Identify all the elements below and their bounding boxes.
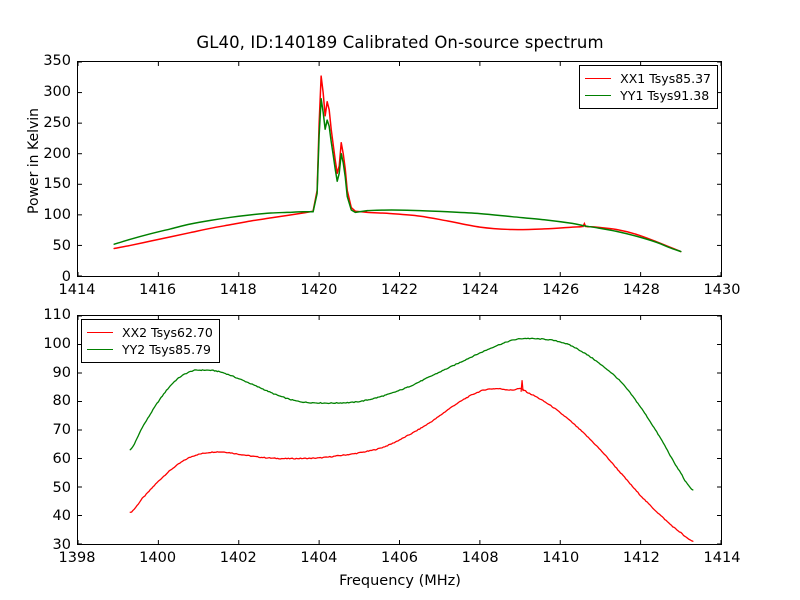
bottom-panel-y-tick-label: 80 <box>7 393 71 409</box>
top-panel-x-tick-label: 1430 <box>692 282 752 298</box>
bottom-panel-y-tick-label: 90 <box>7 365 71 381</box>
legend-swatch-xx2 <box>87 332 113 333</box>
bottom-panel-y-tick-label: 110 <box>7 307 71 323</box>
bottom-panel-y-tick-label: 70 <box>7 422 71 438</box>
top-panel-x-tick-label: 1418 <box>208 282 268 298</box>
top-panel-y-tick-label: 50 <box>7 238 71 254</box>
bottom-panel-x-tick-label: 1402 <box>208 550 268 566</box>
bottom-panel-x-axis-label: Frequency (MHz) <box>0 573 800 589</box>
bottom-panel-x-tick-label: 1406 <box>370 550 430 566</box>
legend-item: YY2 Tsys85.79 <box>87 341 213 358</box>
top-panel-legend: XX1 Tsys85.37 YY1 Tsys91.38 <box>579 65 718 109</box>
legend-label-yy2: YY2 Tsys85.79 <box>122 342 211 357</box>
legend-item: XX2 Tsys62.70 <box>87 324 213 341</box>
bottom-panel-x-tick-label: 1410 <box>531 550 591 566</box>
top-panel-x-tick-label: 1420 <box>289 282 349 298</box>
legend-label-yy1: YY1 Tsys91.38 <box>620 88 709 103</box>
legend-swatch-xx1 <box>585 78 611 79</box>
bottom-panel-plot-area: XX2 Tsys62.70 YY2 Tsys85.79 <box>77 315 722 545</box>
top-panel-y-tick-label: 150 <box>7 176 71 192</box>
top-panel-x-tick-label: 1428 <box>611 282 671 298</box>
bottom-panel-x-tick-label: 1398 <box>47 550 107 566</box>
top-panel-y-tick-label: 300 <box>7 84 71 100</box>
figure-canvas: GL40, ID:140189 Calibrated On-source spe… <box>0 0 800 600</box>
top-panel-x-tick-label: 1414 <box>47 282 107 298</box>
top-panel-x-tick-label: 1422 <box>370 282 430 298</box>
bottom-panel-x-tick-label: 1414 <box>692 550 752 566</box>
top-panel-y-tick-label: 200 <box>7 146 71 162</box>
legend-label-xx1: XX1 Tsys85.37 <box>620 71 711 86</box>
top-panel-y-tick-label: 350 <box>7 53 71 69</box>
top-panel-y-tick-label: 250 <box>7 115 71 131</box>
bottom-panel-x-tick-label: 1404 <box>289 550 349 566</box>
legend-swatch-yy2 <box>87 349 113 350</box>
bottom-panel-y-tick-label: 60 <box>7 451 71 467</box>
legend-label-xx2: XX2 Tsys62.70 <box>122 325 213 340</box>
bottom-panel-x-tick-label: 1408 <box>450 550 510 566</box>
bottom-panel-x-tick-label: 1412 <box>611 550 671 566</box>
legend-item: YY1 Tsys91.38 <box>585 87 711 104</box>
legend-item: XX1 Tsys85.37 <box>585 70 711 87</box>
legend-swatch-yy1 <box>585 95 611 96</box>
top-panel-y-tick-label: 100 <box>7 207 71 223</box>
bottom-panel-y-tick-label: 50 <box>7 480 71 496</box>
bottom-panel-legend: XX2 Tsys62.70 YY2 Tsys85.79 <box>81 319 220 363</box>
top-panel-plot-area: XX1 Tsys85.37 YY1 Tsys91.38 <box>77 61 722 277</box>
bottom-panel-y-tick-label: 40 <box>7 508 71 524</box>
page-title: GL40, ID:140189 Calibrated On-source spe… <box>0 33 800 52</box>
bottom-panel-x-tick-label: 1400 <box>128 550 188 566</box>
top-panel-x-tick-label: 1416 <box>128 282 188 298</box>
top-panel-x-tick-label: 1424 <box>450 282 510 298</box>
bottom-panel-y-tick-label: 100 <box>7 336 71 352</box>
top-panel-x-tick-label: 1426 <box>531 282 591 298</box>
